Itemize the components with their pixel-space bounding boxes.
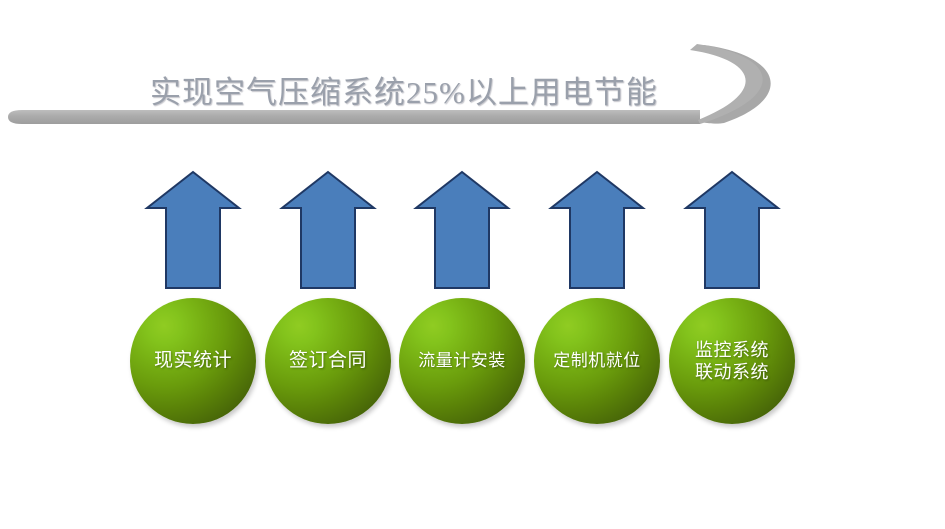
step-label: 现实统计	[150, 349, 236, 373]
process-step[interactable]: 流量计安装	[397, 170, 527, 430]
process-step[interactable]: 现实统计	[128, 170, 258, 430]
process-step[interactable]: 签订合同	[263, 170, 393, 430]
step-circle[interactable]: 监控系统 联动系统	[669, 298, 795, 424]
step-label: 定制机就位	[549, 350, 645, 371]
up-arrow-icon	[397, 170, 527, 292]
step-circle[interactable]: 流量计安装	[399, 298, 525, 424]
up-arrow-icon	[263, 170, 393, 292]
step-circle[interactable]: 现实统计	[130, 298, 256, 424]
up-arrow-icon	[128, 170, 258, 292]
step-label: 签订合同	[285, 349, 371, 373]
slide-canvas: 实现空气压缩系统25%以上用电节能 现实统计 签订合同	[0, 0, 945, 529]
up-arrow-icon	[667, 170, 797, 292]
process-step[interactable]: 定制机就位	[532, 170, 662, 430]
process-step[interactable]: 监控系统 联动系统	[667, 170, 797, 430]
step-circle[interactable]: 签订合同	[265, 298, 391, 424]
process-steps: 现实统计 签订合同 流量计安装	[0, 0, 945, 529]
step-label: 流量计安装	[414, 350, 510, 371]
up-arrow-icon	[532, 170, 662, 292]
step-label: 监控系统 联动系统	[691, 339, 773, 384]
step-circle[interactable]: 定制机就位	[534, 298, 660, 424]
